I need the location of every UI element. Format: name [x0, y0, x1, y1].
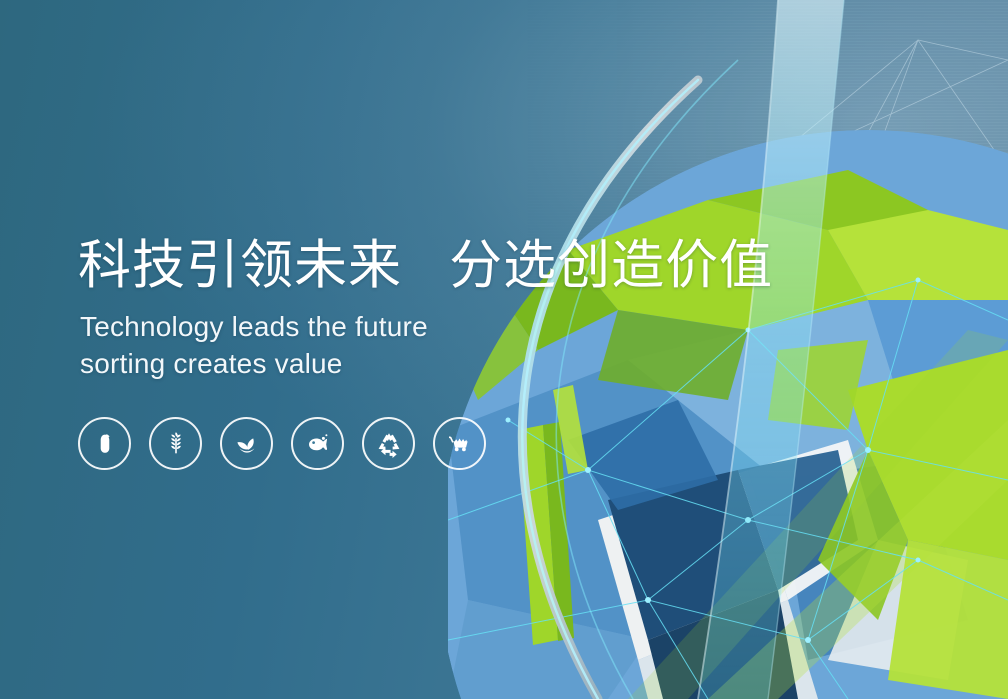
icon-badge-grain[interactable] [78, 417, 131, 470]
icon-badge-fish[interactable] [291, 417, 344, 470]
industry-icon-row [78, 417, 486, 470]
subtitle-english: Technology leads the future sorting crea… [80, 309, 778, 382]
subtitle-line-2: sorting creates value [80, 346, 778, 382]
icon-badge-recycle[interactable] [362, 417, 415, 470]
headline-chinese: 科技引领未来 分选创造价值 [78, 236, 778, 295]
copy-block: 科技引领未来 分选创造价值 Technology leads the futur… [78, 236, 778, 382]
recycle-icon [375, 430, 403, 458]
icon-badge-mine-cart[interactable] [433, 417, 486, 470]
icon-badge-wheat[interactable] [149, 417, 202, 470]
fish-icon [303, 429, 333, 459]
mine-cart-icon [445, 429, 475, 459]
rice-grain-icon [92, 431, 118, 457]
subtitle-line-1: Technology leads the future [80, 309, 778, 345]
icon-badge-tea-leaf[interactable] [220, 417, 273, 470]
wheat-stalk-icon [162, 430, 190, 458]
hero-banner: 科技引领未来 分选创造价值 Technology leads the futur… [0, 0, 1008, 699]
tea-leaf-icon [232, 429, 262, 459]
